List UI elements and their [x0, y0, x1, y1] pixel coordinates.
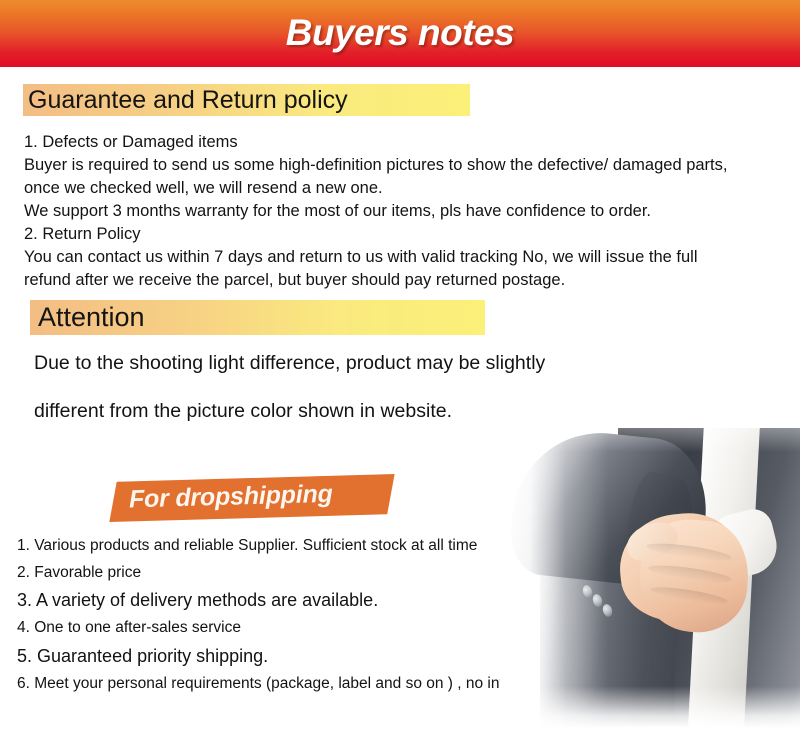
guarantee-line-2: Buyer is required to send us some high-d…	[24, 154, 800, 177]
dropshipping-banner: For dropshipping	[112, 474, 393, 524]
guarantee-body: 1. Defects or Damaged items Buyer is req…	[24, 131, 800, 292]
guarantee-line-3: once we checked well, we will resend a n…	[24, 177, 800, 200]
dropshipping-banner-label: For dropshipping	[129, 480, 333, 515]
guarantee-line-6: You can contact us within 7 days and ret…	[24, 246, 800, 269]
attention-line-1: Due to the shooting light difference, pr…	[34, 350, 734, 376]
guarantee-section-heading: Guarantee and Return policy	[23, 84, 348, 116]
attention-section-heading: Attention	[30, 300, 145, 335]
page-title: Buyers notes	[286, 12, 514, 54]
attention-heading-text: Attention	[38, 302, 145, 333]
guarantee-line-4: We support 3 months warranty for the mos…	[24, 200, 800, 223]
handshake-photo-inner	[500, 428, 800, 728]
guarantee-line-1: 1. Defects or Damaged items	[24, 131, 800, 154]
handshake-photo	[500, 428, 800, 728]
page-header-banner: Buyers notes	[0, 0, 800, 67]
attention-line-2: different from the picture color shown i…	[34, 398, 734, 424]
guarantee-line-7: refund after we receive the parcel, but …	[24, 269, 800, 292]
guarantee-line-5: 2. Return Policy	[24, 223, 800, 246]
guarantee-heading-text: Guarantee and Return policy	[28, 86, 348, 115]
